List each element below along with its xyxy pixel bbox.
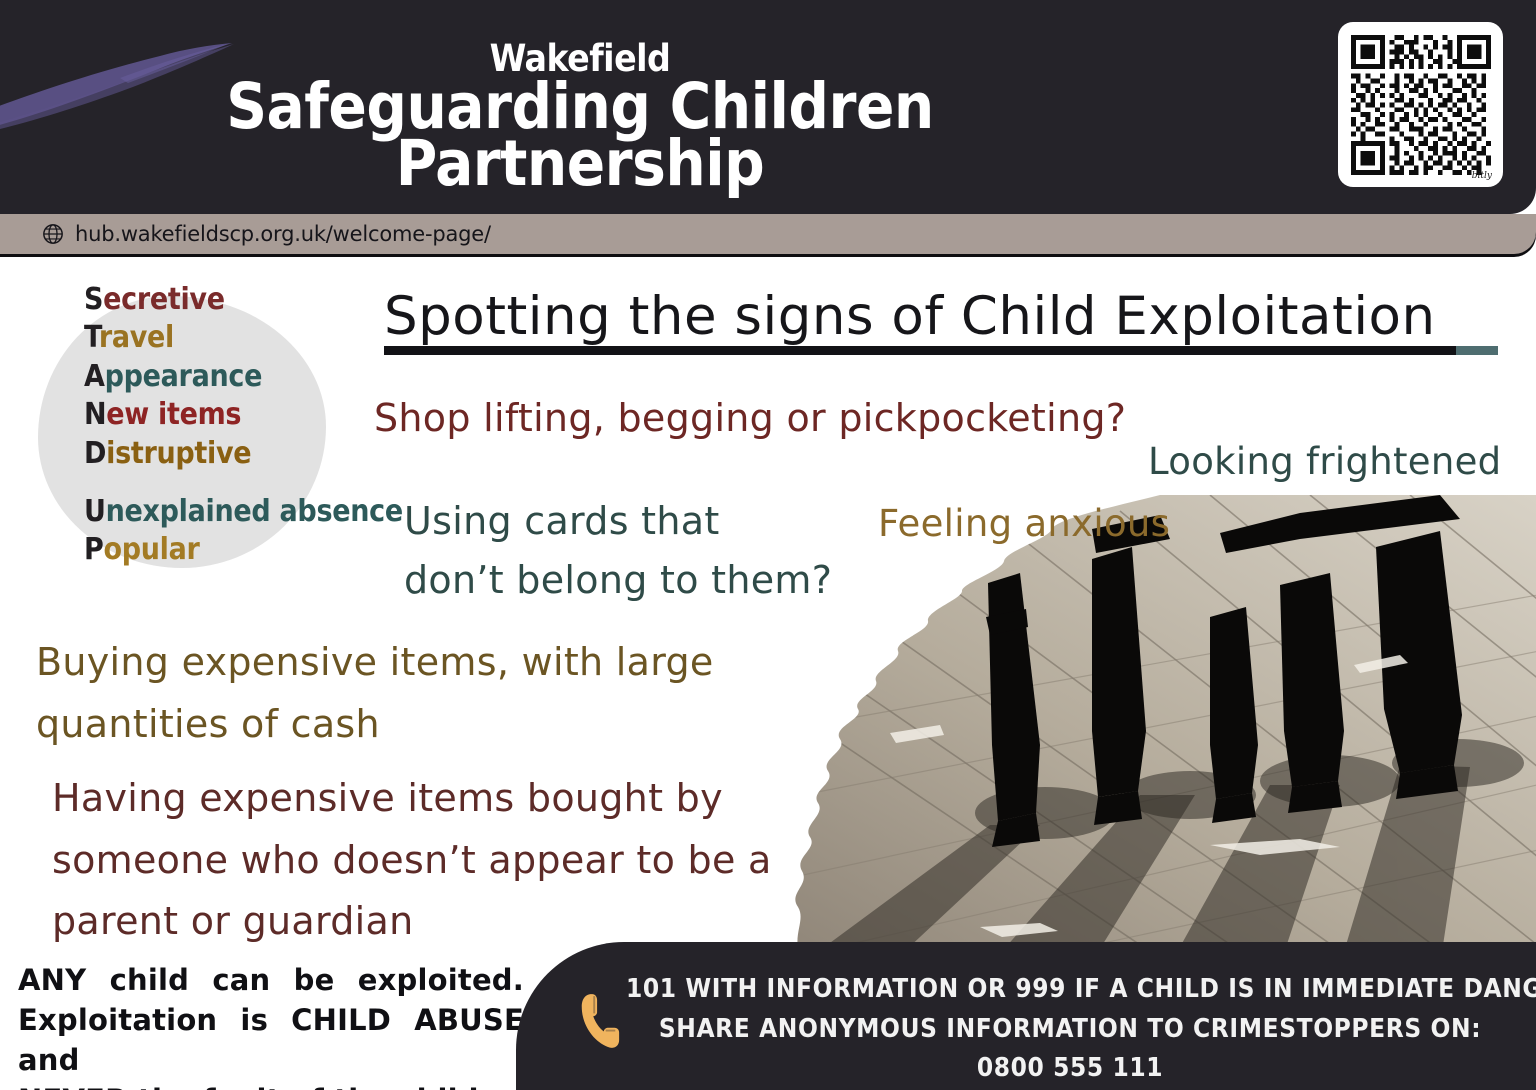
acronym-item-n: New items: [84, 396, 403, 434]
acronym-word: ppearance: [105, 359, 263, 394]
website-url-bar[interactable]: hub.wakefieldscp.org.uk/welcome-page/: [0, 214, 1536, 254]
qr-code-image: [1351, 35, 1491, 175]
acronym-lead-letter: U: [84, 494, 106, 529]
acronym-item-u: Unexplained absence: [84, 493, 403, 531]
qr-code[interactable]: bitly: [1338, 22, 1503, 187]
acronym-spacer: [84, 473, 403, 493]
disclaimer-text: ANY child can be exploited. Exploitation…: [18, 960, 524, 1090]
acronym-word: ravel: [99, 320, 174, 355]
footer-line-1: 101 WITH INFORMATION OR 999 IF A CHILD I…: [626, 970, 1514, 1010]
acronym-item-p: Popular: [84, 531, 403, 569]
acronym-word: opular: [103, 532, 199, 567]
sign-anxious: Feeling anxious: [878, 502, 1170, 545]
acronym-lead-letter: P: [84, 532, 103, 567]
globe-icon: [42, 223, 64, 245]
title-underline-accent: [1456, 346, 1498, 355]
acronym-word: istruptive: [106, 436, 251, 471]
disclaimer-line-2: Exploitation is CHILD ABUSE and: [18, 1000, 524, 1080]
sign-having-items: Having expensive items bought by someone…: [52, 768, 772, 953]
header-bar: Wakefield Safeguarding Children Partners…: [0, 0, 1536, 214]
qr-watermark: bitly: [1472, 171, 1492, 181]
url-text: hub.wakefieldscp.org.uk/welcome-page/: [75, 222, 491, 246]
acronym-lead-letter: A: [84, 359, 105, 394]
contact-footer-bar: 101 WITH INFORMATION OR 999 IF A CHILD I…: [516, 942, 1536, 1090]
disclaimer-line-3: NEVER the fault of the child.: [18, 1080, 524, 1090]
sign-buying-items: Buying expensive items, with large quant…: [36, 632, 714, 755]
acronym-lead-letter: S: [84, 282, 103, 317]
sign-cards: Using cards that don’t belong to them?: [404, 492, 832, 610]
disclaimer-line-1: ANY child can be exploited.: [18, 960, 524, 1000]
org-line-3: Partnership: [0, 132, 1160, 195]
acronym-item-a: Appearance: [84, 358, 403, 396]
acronym-item-t: Travel: [84, 319, 403, 357]
acronym-lead-letter: N: [84, 397, 106, 432]
poster-root: Wakefield Safeguarding Children Partners…: [0, 0, 1536, 1090]
acronym-item-d: Distruptive: [84, 435, 403, 473]
acronym-word: nexplained absence: [106, 494, 403, 529]
organisation-title: Wakefield Safeguarding Children Partners…: [0, 40, 1160, 195]
footer-line-2: SHARE ANONYMOUS INFORMATION TO CRIMESTOP…: [626, 1010, 1514, 1050]
acronym-word: ecretive: [103, 282, 225, 317]
acronym-word: ew items: [106, 397, 241, 432]
footer-line-3: 0800 555 111: [626, 1049, 1514, 1089]
page-title: Spotting the signs of Child Exploitation: [384, 286, 1436, 347]
title-underline: [384, 346, 1498, 355]
footer-contact-text: 101 WITH INFORMATION OR 999 IF A CHILD I…: [626, 970, 1514, 1089]
standup-acronym-list: SecretiveTravelAppearanceNew itemsDistru…: [84, 281, 403, 570]
acronym-item-s: Secretive: [84, 281, 403, 319]
photo-silhouettes: [740, 495, 1536, 955]
acronym-lead-letter: D: [84, 436, 106, 471]
acronym-lead-letter: T: [84, 320, 99, 355]
phone-icon: [576, 990, 622, 1052]
sign-frightened: Looking frightened: [1148, 440, 1501, 483]
sign-shoplifting: Shop lifting, begging or pickpocketing?: [374, 396, 1126, 440]
